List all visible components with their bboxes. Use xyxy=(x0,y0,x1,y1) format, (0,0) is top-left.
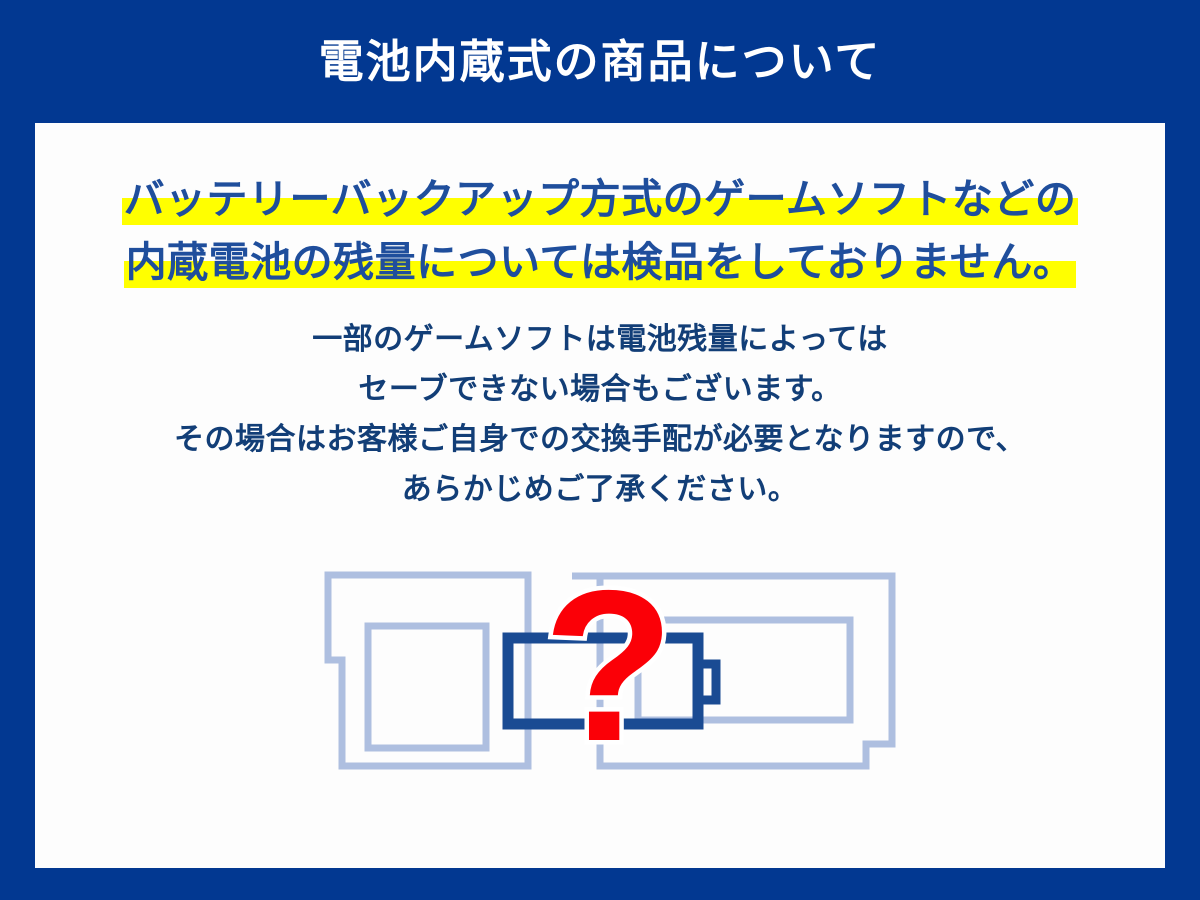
headline-highlight-2: 内蔵電池の残量については検品をしておりません。 xyxy=(124,231,1077,294)
headline-line-1: バッテリーバックアップ方式のゲームソフトなどの xyxy=(35,168,1165,231)
body-line-4: あらかじめご了承ください。 xyxy=(35,465,1165,515)
slide-root: 電池内蔵式の商品について バッテリーバックアップ方式のゲームソフトなどの 内蔵電… xyxy=(0,0,1200,900)
content-panel: バッテリーバックアップ方式のゲームソフトなどの 内蔵電池の残量については検品をし… xyxy=(35,123,1165,868)
title-banner: 電池内蔵式の商品について xyxy=(0,0,1200,123)
headline-highlight-1: バッテリーバックアップ方式のゲームソフトなどの xyxy=(122,168,1079,231)
game-cartridge-left-icon xyxy=(328,575,528,766)
body-copy-block: 一部のゲームソフトは電池残量によっては セーブできない場合もございます。 その場… xyxy=(35,315,1165,515)
body-line-2: セーブできない場合もございます。 xyxy=(35,365,1165,415)
headline-text-1: バッテリーバックアップ方式のゲームソフトなどの xyxy=(124,176,1077,222)
battery-illustration: ? xyxy=(300,548,920,798)
body-line-3: その場合はお客様ご自身での交換手配が必要となりますので、 xyxy=(35,415,1165,465)
question-mark-icon: ? xyxy=(543,548,674,786)
body-line-1: 一部のゲームソフトは電池残量によっては xyxy=(35,315,1165,365)
headline-text-2: 内蔵電池の残量については検品をしておりません。 xyxy=(126,239,1075,285)
svg-text:?: ? xyxy=(543,548,674,786)
page-title: 電池内蔵式の商品について xyxy=(319,39,882,84)
headline-block: バッテリーバックアップ方式のゲームソフトなどの 内蔵電池の残量については検品をし… xyxy=(35,168,1165,294)
headline-line-2: 内蔵電池の残量については検品をしておりません。 xyxy=(35,231,1165,294)
